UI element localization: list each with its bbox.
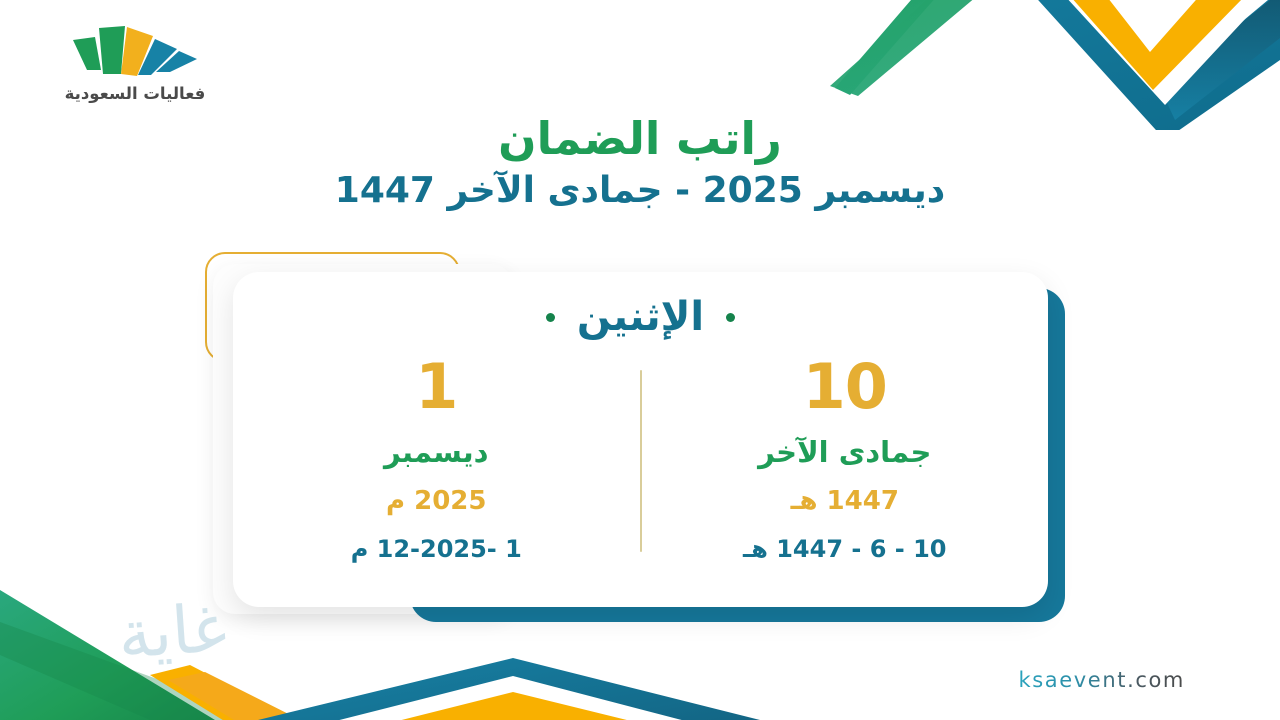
gregorian-day-number: 1	[415, 354, 457, 419]
poster-canvas: فعاليات السعودية راتب الضمان ديسمبر 2025…	[0, 0, 1280, 720]
gregorian-year: 2025 م	[386, 486, 486, 517]
day-name-header: الإثنين	[546, 292, 735, 342]
date-card: الإثنين 10 جمادى الآخر 1447 هـ 10 - 6 - …	[233, 272, 1048, 607]
site-url: ksaevent.com	[1018, 668, 1185, 692]
brand-logo: فعاليات السعودية	[40, 18, 230, 103]
hijri-month-name: جمادى الآخر	[758, 435, 931, 470]
hijri-full-date: 10 - 6 - 1447 هـ	[743, 535, 946, 564]
hijri-day-number: 10	[803, 354, 887, 419]
column-divider	[640, 370, 642, 552]
top-right-decoration	[600, 0, 1280, 130]
day-dot-right-icon	[726, 313, 735, 322]
title-block: راتب الضمان ديسمبر 2025 - جمادى الآخر 14…	[0, 112, 1280, 212]
hijri-year: 1447 هـ	[791, 486, 899, 517]
date-columns: 10 جمادى الآخر 1447 هـ 10 - 6 - 1447 هـ …	[233, 354, 1048, 564]
page-title: راتب الضمان	[0, 112, 1280, 165]
date-card-stack: الإثنين 10 جمادى الآخر 1447 هـ 10 - 6 - …	[205, 252, 1065, 622]
bottom-right-decoration	[1150, 600, 1280, 720]
day-dot-left-icon	[546, 313, 555, 322]
page-subtitle: ديسمبر 2025 - جمادى الآخر 1447	[0, 169, 1280, 212]
gregorian-date-column: 1 ديسمبر 2025 م 1 -12-2025 م	[233, 354, 640, 564]
gregorian-month-name: ديسمبر	[384, 435, 489, 470]
hijri-date-column: 10 جمادى الآخر 1447 هـ 10 - 6 - 1447 هـ	[642, 354, 1049, 564]
saudi-palm-fan-logo-icon	[55, 18, 215, 80]
brand-logo-text: فعاليات السعودية	[40, 84, 230, 103]
gregorian-full-date: 1 -12-2025 م	[351, 535, 522, 564]
day-name: الإثنين	[577, 292, 704, 342]
